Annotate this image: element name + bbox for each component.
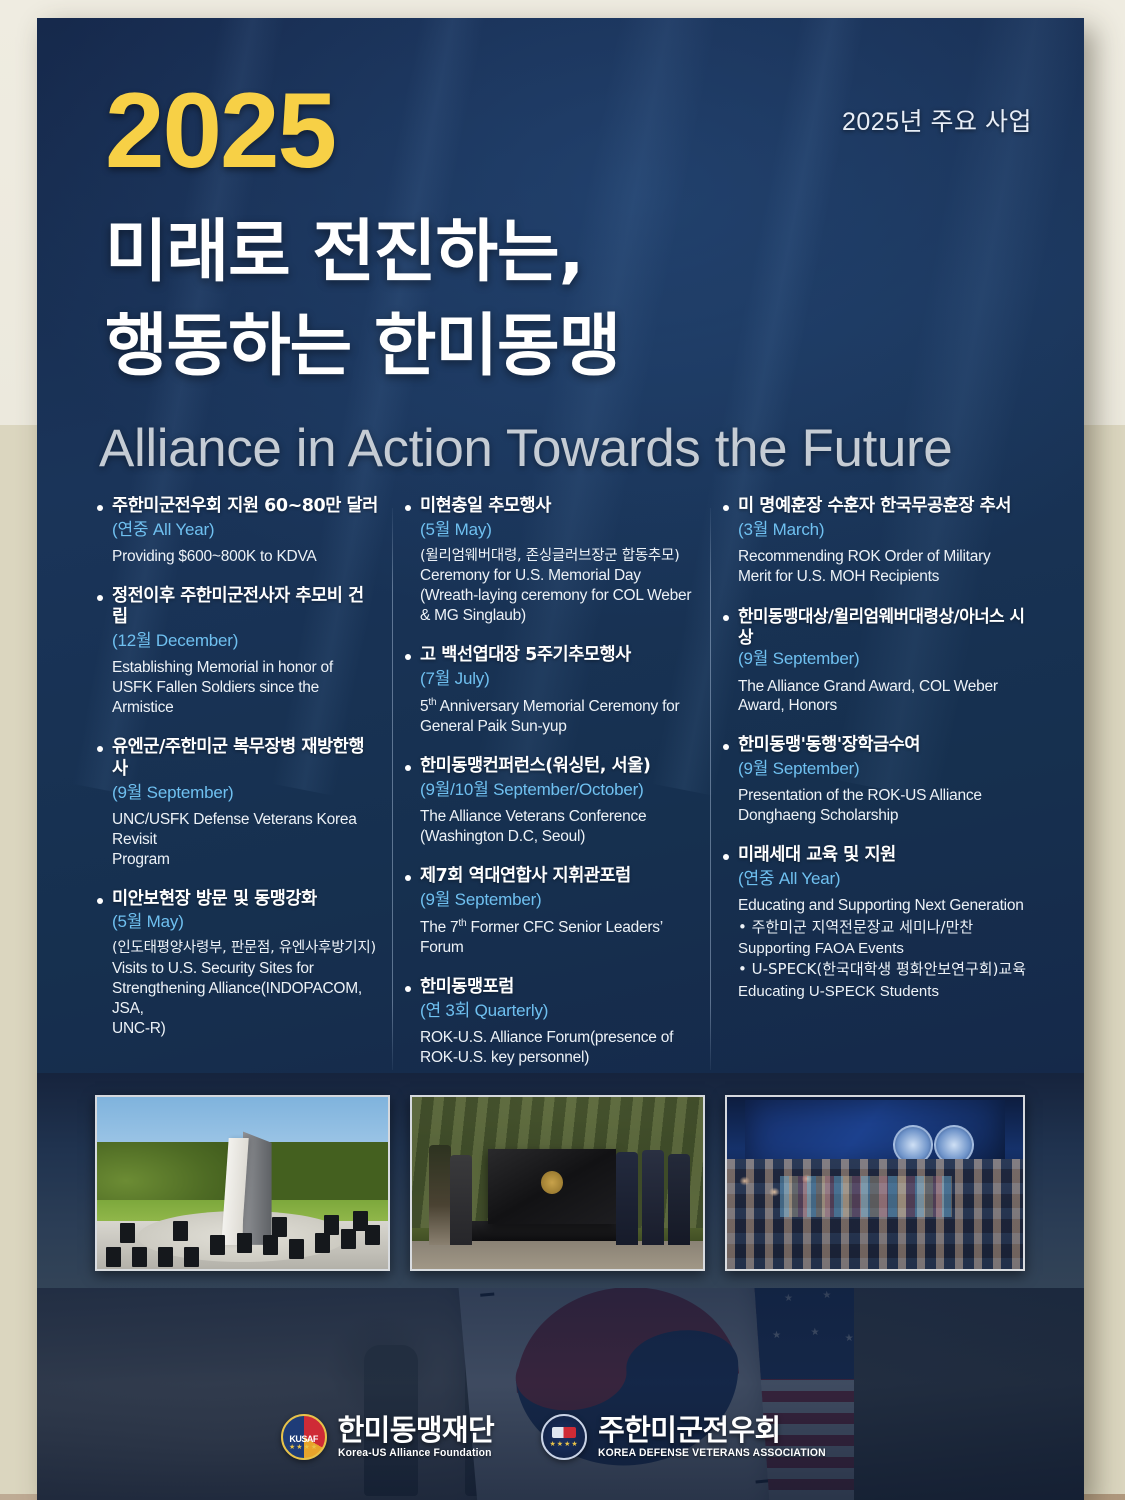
item-desc: The 7th Former CFC Senior Leaders’ Forum (420, 917, 696, 958)
program-item: 주한미군전우회 지원 60~80만 달러 (연중 All Year) Provi… (96, 496, 378, 567)
item-heading: 미안보현장 방문 및 동맹강화 (112, 889, 378, 911)
item-heading: 미 명예훈장 수훈자 한국무공훈장 추서 (738, 496, 1030, 518)
program-column-2: 미현충일 추모행사 (5월 May) (윌리엄웨버대령, 존싱글러브장군 합동추… (392, 496, 710, 1076)
photo-strip (37, 1073, 1084, 1288)
item-period: (9월 September) (112, 782, 378, 804)
person-guest (616, 1152, 638, 1245)
person-guest (642, 1150, 664, 1245)
bullet-icon (405, 765, 411, 771)
item-subbullet: • 주한미군 지역전문장교 세미나/만찬 (738, 918, 1030, 937)
program-item: 제7회 역대연합사 지휘관포럼 (9월 September) The 7th F… (404, 866, 696, 958)
kdva-stars: ★★★★ (543, 1440, 585, 1448)
kdva-crossed-flags-icon (552, 1427, 576, 1438)
item-desc-ko: (윌리엄웨버대령, 존싱글러브장군 합동추모) (420, 547, 696, 566)
brand-korea-defense-veterans-association: ★★★★ 주한미군전우회 KOREA DEFENSE VETERANS ASSO… (541, 1414, 840, 1460)
item-period: (9월 September) (738, 648, 1030, 670)
item-heading: 한미동맹포럼 (420, 977, 696, 999)
item-heading: 한미동맹'동행'장학금수여 (738, 735, 1030, 757)
item-desc: The Alliance Veterans Conference(Washing… (420, 807, 696, 847)
black-granite-monument (488, 1149, 616, 1225)
item-period: (12월 December) (112, 630, 378, 652)
brand-text-block: 주한미군전우회 KOREA DEFENSE VETERANS ASSOCIATI… (598, 1415, 840, 1459)
item-desc: Recommending ROK Order of MilitaryMerit … (738, 547, 1030, 587)
program-column-1: 주한미군전우회 지원 60~80만 달러 (연중 All Year) Provi… (84, 496, 392, 1076)
item-desc-ko: (인도태평양사령부, 판문점, 유엔사후방기지) (112, 939, 378, 958)
bottom-imagery: ★★★ ★★ ★★★ (37, 1288, 1084, 1500)
bottom-navy-overlay (37, 1288, 1084, 1500)
program-column-3: 미 명예훈장 수훈자 한국무공훈장 추서 (3월 March) Recommen… (710, 496, 1044, 1076)
item-period: (연 3회 Quarterly) (420, 1000, 696, 1022)
bullet-icon (97, 898, 103, 904)
item-heading: 고 백선엽대장 5주기추모행사 (420, 645, 696, 667)
poster: 2025년 주요 사업 2025 미래로 전진하는, 행동하는 한미동맹 All… (37, 18, 1084, 1500)
item-subbullet: Supporting FAOA Events (738, 939, 1030, 958)
item-period: (3월 March) (738, 519, 1030, 541)
item-heading: 미래세대 교육 및 지원 (738, 845, 1030, 867)
person-guest (450, 1155, 472, 1244)
kusaf-stars: ★★★★ (283, 1443, 325, 1451)
item-heading: 주한미군전우회 지원 60~80만 달러 (112, 496, 378, 518)
bullet-icon (97, 595, 103, 601)
program-item: 정전이후 주한미군전사자 추모비 건립 (12월 December) Estab… (96, 586, 378, 718)
item-subbullet: • U-SPECK(한국대학생 평화안보연구회)교육 (738, 960, 1030, 979)
item-heading: 한미동맹컨퍼런스(워싱턴, 서울) (420, 756, 696, 778)
bullet-icon (405, 505, 411, 511)
item-desc: Presentation of the ROK-US AllianceDongh… (738, 786, 1030, 826)
kdva-emblem-icon: ★★★★ (541, 1414, 587, 1460)
program-item: 유엔군/주한미군 복무장병 재방한행사 (9월 September) UNC/U… (96, 737, 378, 869)
header-kicker: 2025년 주요 사업 (842, 102, 1032, 138)
program-item: 한미동맹포럼 (연 3회 Quarterly) ROK-U.S. Allianc… (404, 977, 696, 1068)
item-period: (5월 May) (112, 911, 378, 933)
hanbok-row (780, 1176, 952, 1217)
poster-header: 2025년 주요 사업 2025 미래로 전진하는, 행동하는 한미동맹 All… (37, 18, 1084, 488)
title-korean-line2: 행동하는 한미동맹 (105, 312, 620, 381)
program-columns: 주한미군전우회 지원 60~80만 달러 (연중 All Year) Provi… (84, 496, 1044, 1076)
memorial-stones (97, 1217, 388, 1269)
brand-name-english: Korea-US Alliance Foundation (338, 1447, 492, 1459)
program-item: 미 명예훈장 수훈자 한국무공훈장 추서 (3월 March) Recommen… (722, 496, 1030, 587)
item-period: (7월 July) (420, 668, 696, 690)
photo-monument-dedication-ceremony (410, 1095, 705, 1271)
program-item: 한미동맹컨퍼런스(워싱턴, 서울) (9월/10월 September/Octo… (404, 756, 696, 847)
bullet-icon (405, 654, 411, 660)
footer-logos: KUSAF ★★★★ 한미동맹재단 Korea-US Alliance Foun… (37, 1414, 1084, 1460)
item-desc: UNC/USFK Defense Veterans Korea RevisitP… (112, 810, 378, 870)
walkway (412, 1241, 703, 1269)
bullet-icon (405, 986, 411, 992)
item-period: (5월 May) (420, 519, 696, 541)
brand-name-korean: 주한미군전우회 (598, 1415, 840, 1445)
bullet-icon (723, 615, 729, 621)
item-heading: 정전이후 주한미군전사자 추모비 건립 (112, 586, 378, 629)
item-desc: ROK-U.S. Alliance Forum(presence ofROK-U… (420, 1028, 696, 1068)
brand-text-block: 한미동맹재단 Korea-US Alliance Foundation (338, 1415, 501, 1459)
item-desc: Educating and Supporting Next Generation (738, 896, 1030, 916)
item-desc: Ceremony for U.S. Memorial Day(Wreath-la… (420, 566, 696, 626)
bullet-icon (723, 744, 729, 750)
item-desc: Establishing Memorial in honor ofUSFK Fa… (112, 658, 378, 718)
photo-alliance-conference-group (725, 1095, 1025, 1271)
bullet-icon (405, 875, 411, 881)
program-item: 한미동맹대상/윌리엄웨버대령상/아너스 시상 (9월 September) Th… (722, 606, 1030, 717)
item-heading: 유엔군/주한미군 복무장병 재방한행사 (112, 737, 378, 780)
item-desc: 5th Anniversary Memorial Ceremony forGen… (420, 696, 696, 737)
bullet-icon (97, 746, 103, 752)
item-period: (연중 All Year) (738, 868, 1030, 890)
program-item: 미래세대 교육 및 지원 (연중 All Year) Educating and… (722, 845, 1030, 1001)
item-period: (연중 All Year) (112, 519, 378, 541)
program-item: 미안보현장 방문 및 동맹강화 (5월 May) (인도태평양사령부, 판문점,… (96, 889, 378, 1039)
item-period: (9월 September) (420, 889, 696, 911)
photo-usfk-fallen-soldiers-memorial-park (95, 1095, 390, 1271)
item-heading: 제7회 역대연합사 지휘관포럼 (420, 866, 696, 888)
brand-name-korean: 한미동맹재단 (338, 1415, 501, 1445)
kusaf-emblem-icon: KUSAF ★★★★ (281, 1414, 327, 1460)
item-heading: 미현충일 추모행사 (420, 496, 696, 518)
program-item: 미현충일 추모행사 (5월 May) (윌리엄웨버대령, 존싱글러브장군 합동추… (404, 496, 696, 626)
item-heading: 한미동맹대상/윌리엄웨버대령상/아너스 시상 (738, 606, 1030, 648)
program-item: 한미동맹'동행'장학금수여 (9월 September) Presentatio… (722, 735, 1030, 826)
program-item: 고 백선엽대장 5주기추모행사 (7월 July) 5th Anniversar… (404, 645, 696, 737)
bullet-icon (723, 505, 729, 511)
bullet-icon (97, 505, 103, 511)
item-period: (9월/10월 September/October) (420, 779, 696, 801)
person-officer (429, 1145, 451, 1245)
item-desc: The Alliance Grand Award, COL WeberAward… (738, 677, 1030, 717)
person-guest (668, 1154, 690, 1245)
item-subbullet: Educating U-SPECK Students (738, 982, 1030, 1001)
item-desc: Providing $600~800K to KDVA (112, 547, 378, 567)
title-english: Alliance in Action Towards the Future (99, 418, 952, 479)
item-period: (9월 September) (738, 758, 1030, 780)
title-korean-line1: 미래로 전진하는, (105, 218, 583, 287)
year-title: 2025 (105, 80, 335, 182)
bullet-icon (723, 854, 729, 860)
item-desc: Visits to U.S. Security Sites forStrengt… (112, 959, 378, 1039)
brand-korea-us-alliance-foundation: KUSAF ★★★★ 한미동맹재단 Korea-US Alliance Foun… (281, 1414, 501, 1460)
brand-name-english: KOREA DEFENSE VETERANS ASSOCIATION (598, 1447, 826, 1459)
